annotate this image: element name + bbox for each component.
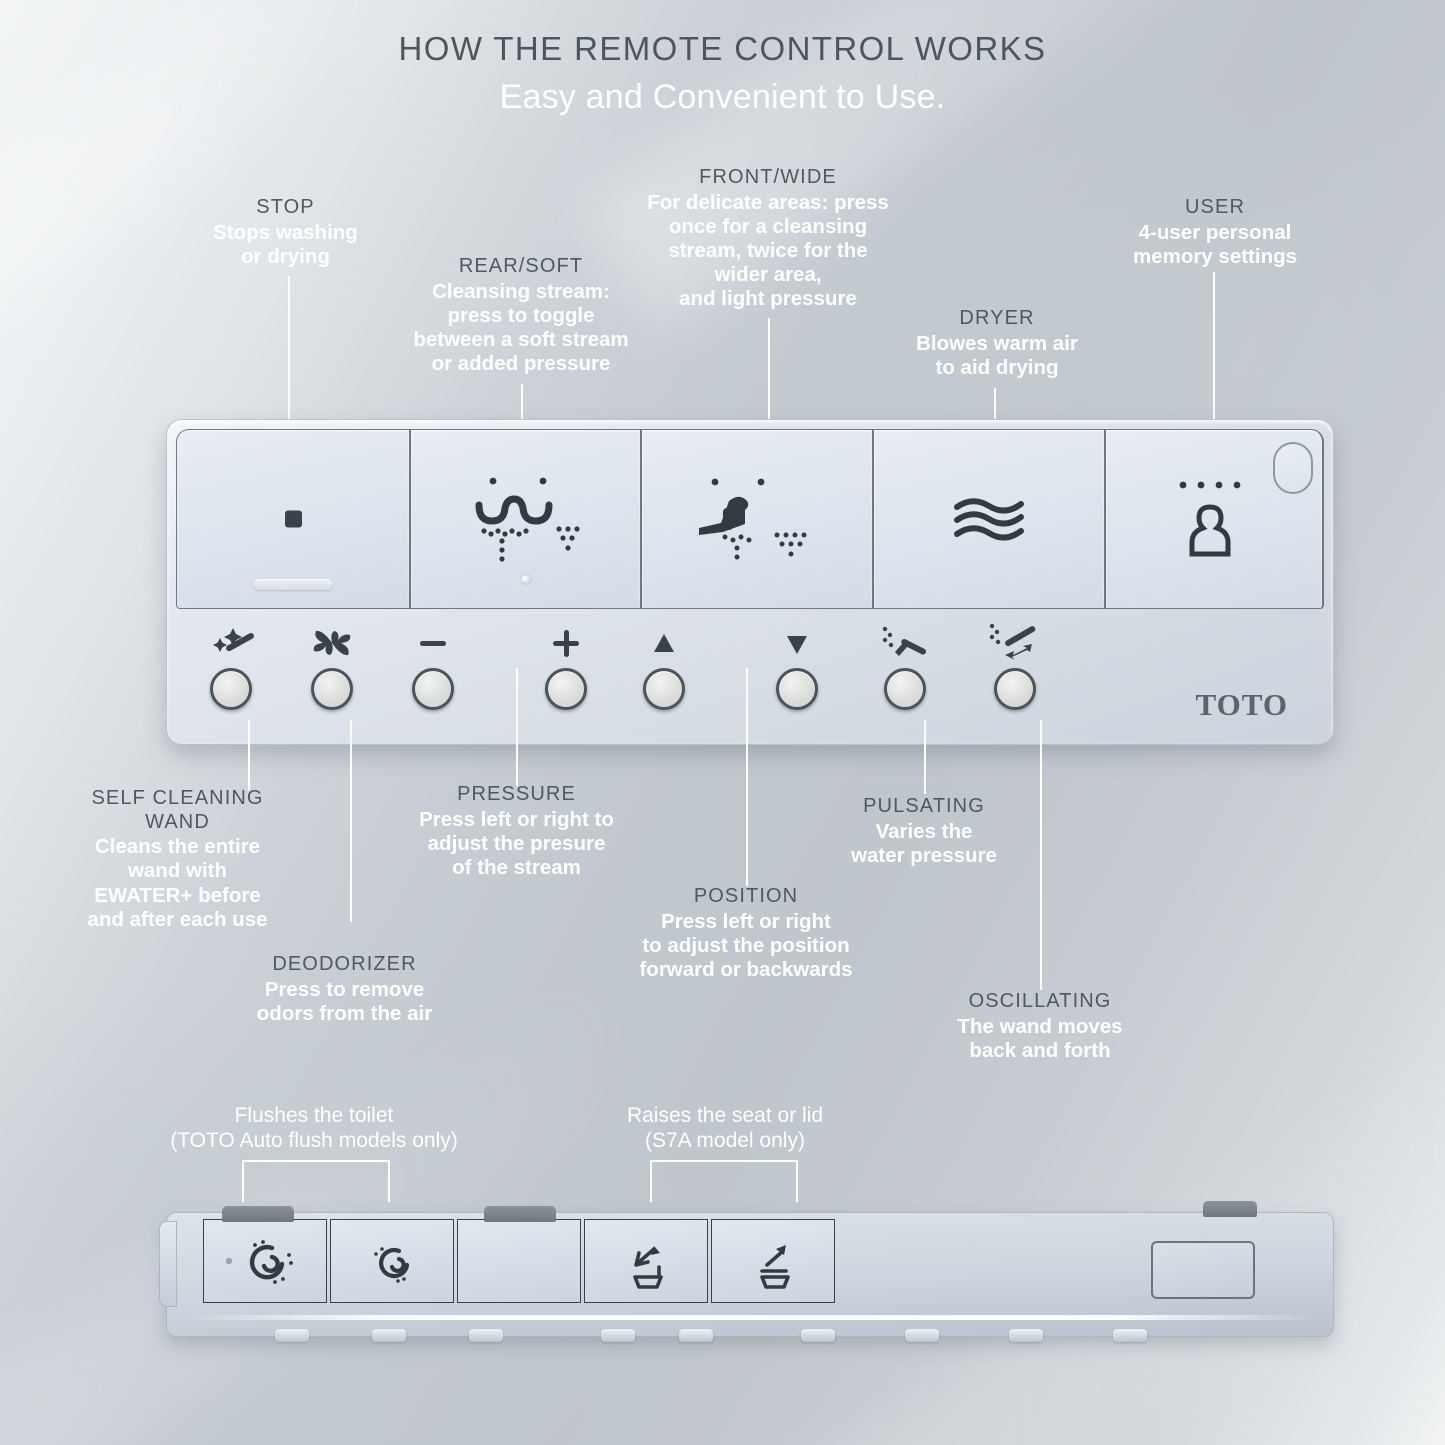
callout-flush: Flushes the toilet (TOTO Auto flush mode… [158,1103,470,1154]
display-window [1151,1241,1255,1299]
right-nub [1203,1201,1257,1217]
remote-feet-row [167,1329,1333,1345]
callout-rear-soft: REAR/SOFT Cleansing stream: press to tog… [396,255,646,376]
rear-soft-spray-icon [411,471,640,567]
callout-user: USER 4-user personal memory settings [1090,196,1340,269]
callout-heading: PRESSURE [394,783,639,807]
callout-body: Raises the seat or lid (S7A model only) [571,1104,879,1154]
callout-body: Flushes the toilet (TOTO Auto flush mode… [158,1104,470,1154]
button-cap[interactable] [994,668,1036,710]
deodorizer-button[interactable] [300,626,364,710]
callout-body: 4-user personal memory settings [1090,221,1340,269]
leader-line-pulsating [924,720,926,794]
remote-foot [1113,1329,1147,1342]
plus-icon [534,626,598,662]
page-title: HOW THE REMOTE CONTROL WORKS Easy and Co… [0,30,1445,117]
pressure-up-button[interactable] [534,626,598,710]
callout-heading: PULSATING [800,795,1048,819]
pressure-down-button[interactable] [401,626,465,710]
blank-nub [484,1206,556,1222]
callout-body: Varies the water pressure [800,820,1048,868]
callout-deodorizer: DEODORIZER Press to remove odors from th… [222,953,467,1026]
leader-line-pressure [516,668,518,786]
fan-icon [300,626,364,662]
callout-heading: STOP [163,196,408,220]
bracket-flush [242,1160,390,1202]
bracket-seat-lid [650,1160,798,1202]
callout-position: POSITION Press left or right to adjust t… [622,885,870,982]
bottom-edge-highlight [181,1315,1319,1320]
callout-dryer: DRYER Blowes warm air to aid drying [872,307,1122,380]
remote-foot [905,1329,939,1342]
callout-heading: DEODORIZER [222,953,467,977]
title-main: HOW THE REMOTE CONTROL WORKS [0,30,1445,68]
callout-body: For delicate areas: press once for a cle… [632,191,904,312]
callout-pulsating: PULSATING Varies the water pressure [800,795,1048,868]
remote-control-front: TOTO [166,419,1334,745]
remote-foot [801,1329,835,1342]
button-cap[interactable] [776,668,818,710]
triangle-down-icon [765,626,829,662]
callout-body: Press to remove odors from the air [222,978,467,1026]
callout-stop: STOP Stops washing or drying [163,196,408,269]
button-cap[interactable] [412,668,454,710]
leader-line-deodorizer [350,720,352,922]
callout-heading: DRYER [872,307,1122,331]
remote-foot [601,1329,635,1342]
warm-air-waves-icon [874,491,1104,547]
toto-brand-logo: TOTO [1196,687,1288,723]
self-cleaning-wand-button[interactable] [199,626,263,710]
leader-line-position [746,668,748,886]
callout-body: Press left or right to adjust the presur… [394,808,639,881]
user-panel[interactable] [1105,429,1324,609]
callout-seat-lid: Raises the seat or lid (S7A model only) [571,1103,879,1154]
seat-raise-button[interactable] [711,1219,835,1303]
stop-panel[interactable] [176,429,411,609]
triangle-up-icon [632,626,696,662]
title-sub: Easy and Convenient to Use. [0,78,1445,117]
hanging-hook [1273,442,1313,494]
callout-body: Stops washing or drying [163,221,408,269]
callout-heading: SELF CLEANING WAND [55,787,300,834]
oscillating-wand-icon [983,626,1047,662]
callout-heading: OSCILLATING [916,990,1164,1014]
stop-indicator-bar [254,579,332,590]
stop-square-icon [177,511,409,528]
pulsating-button[interactable] [873,626,937,710]
blank-button[interactable] [457,1219,581,1303]
flush-small-button[interactable] [330,1219,454,1303]
callout-pressure: PRESSURE Press left or right to adjust t… [394,783,639,880]
pulsating-wand-icon [873,626,937,662]
remote-side-edge [159,1221,177,1307]
remote-foot [372,1329,406,1342]
callout-body: Press left or right to adjust the positi… [622,910,870,983]
flush-swirl-large-icon [215,1235,315,1287]
callout-heading: FRONT/WIDE [632,166,904,190]
flush-large-nub [222,1206,294,1222]
sparkle-wand-icon [199,626,263,662]
position-down-button[interactable] [765,626,829,710]
position-up-button[interactable] [632,626,696,710]
round-button-strip: TOTO [176,612,1326,737]
flush-swirl-small-icon [346,1237,438,1285]
seat-lower-icon [615,1233,677,1289]
remote-control-side [166,1212,1334,1337]
button-cap[interactable] [884,668,926,710]
leader-line-self-cleaning-wand [248,720,250,790]
dryer-panel[interactable] [873,429,1106,609]
callout-body: Cleans the entire wand with EWATER+ befo… [55,835,300,932]
button-cap[interactable] [210,668,252,710]
callout-oscillating: OSCILLATING The wand moves back and fort… [916,990,1164,1063]
callout-body: Blowes warm air to aid drying [872,332,1122,380]
callout-front-wide: FRONT/WIDE For delicate areas: press onc… [632,166,904,312]
callout-heading: POSITION [622,885,870,909]
callout-self-cleaning-wand: SELF CLEANING WAND Cleans the entire wan… [55,787,300,932]
button-cap[interactable] [545,668,587,710]
leader-line-oscillating [1040,720,1042,990]
front-wide-panel[interactable] [641,429,874,609]
bottom-panel-row [203,1219,838,1303]
background-streak [0,963,669,1445]
oscillating-button[interactable] [983,626,1047,710]
button-cap[interactable] [643,668,685,710]
remote-foot [1009,1329,1043,1342]
minus-icon [401,626,465,662]
rear-soft-panel[interactable] [410,429,642,609]
seat-raise-icon [742,1233,804,1289]
seat-lower-button[interactable] [584,1219,708,1303]
front-panel-row [176,429,1326,609]
remote-foot [679,1329,713,1342]
flush-large-button[interactable] [203,1219,327,1303]
callout-body: Cleansing stream: press to toggle betwee… [396,280,646,377]
callout-heading: USER [1090,196,1340,220]
rear-soft-led [521,575,530,584]
callout-heading: REAR/SOFT [396,255,646,279]
remote-foot [275,1329,309,1342]
button-cap[interactable] [311,668,353,710]
remote-foot [469,1329,503,1342]
front-wide-spray-icon [642,473,872,565]
callout-body: The wand moves back and forth [916,1015,1164,1063]
infographic-canvas: HOW THE REMOTE CONTROL WORKS Easy and Co… [0,0,1445,1445]
